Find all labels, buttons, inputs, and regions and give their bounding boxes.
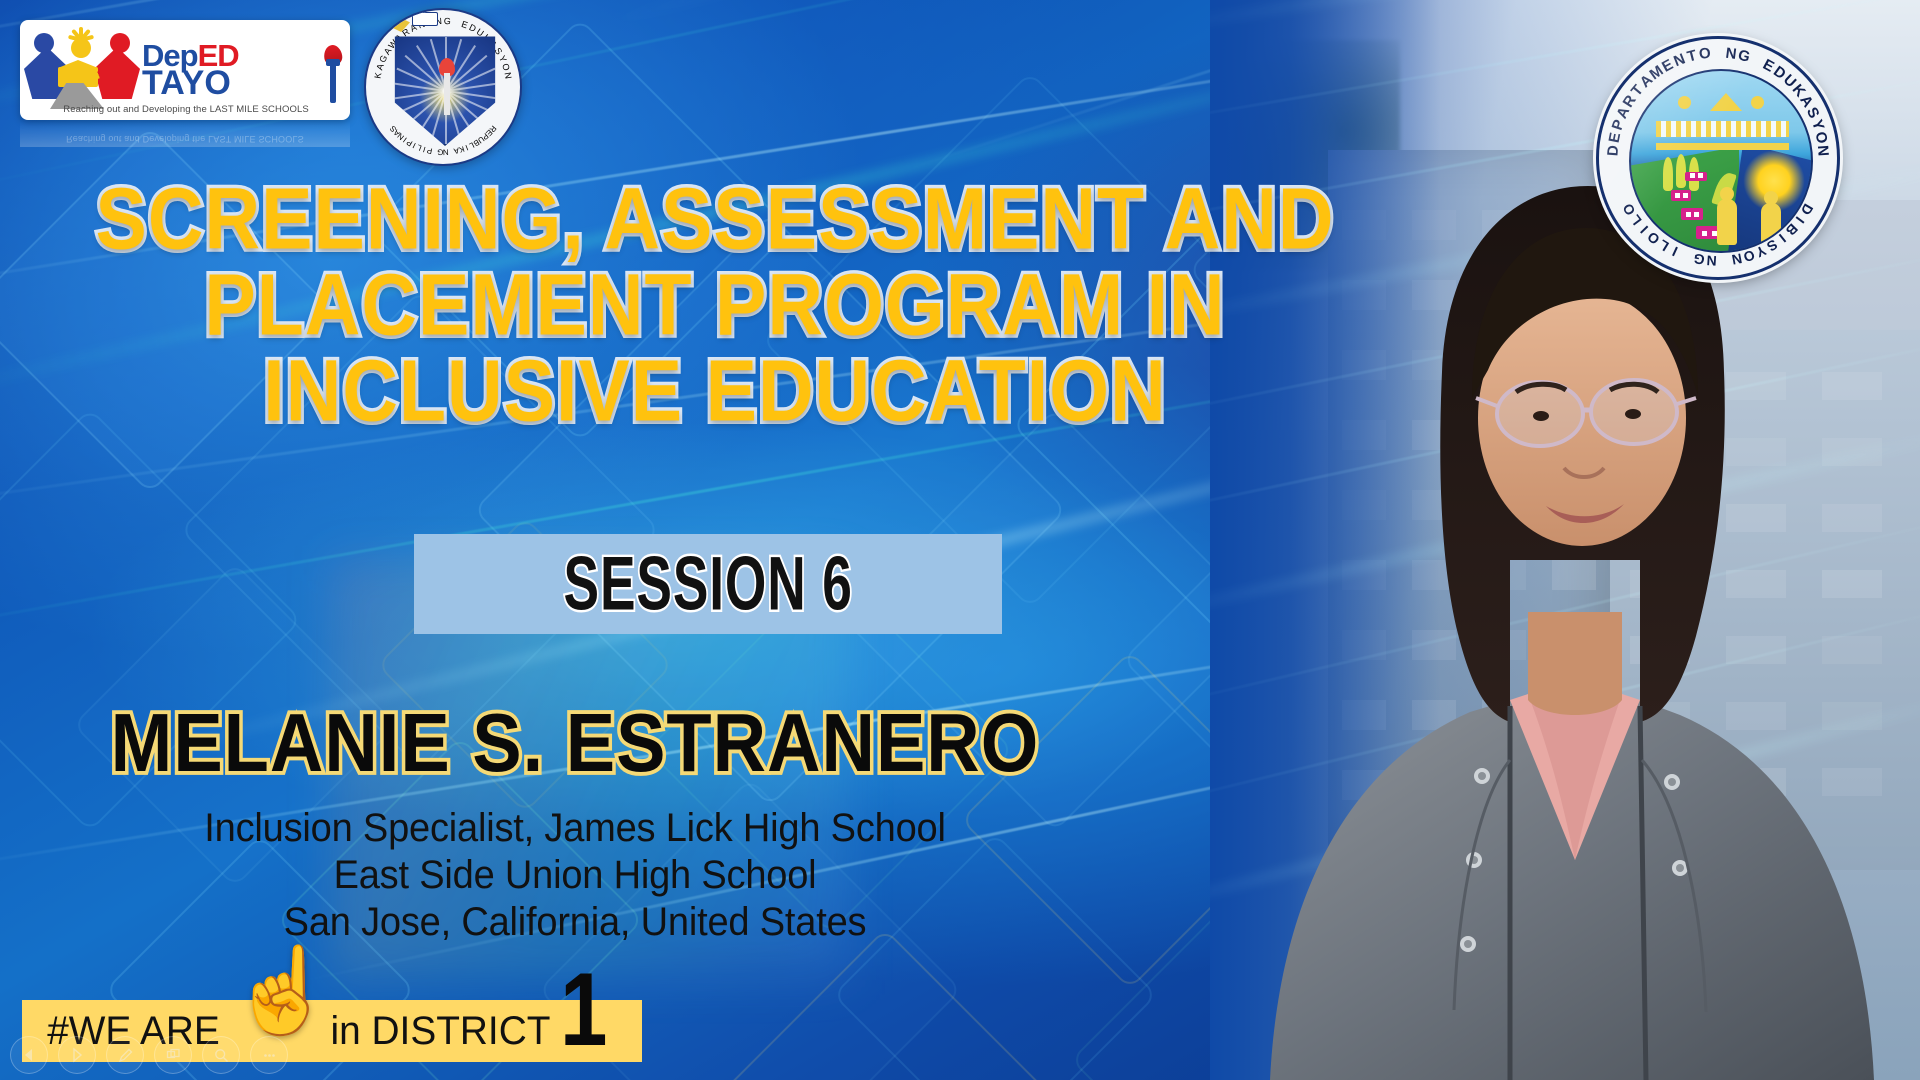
book-icon bbox=[412, 12, 438, 26]
previous-slide-icon[interactable] bbox=[10, 1036, 48, 1074]
speaker-affiliation: Inclusion Specialist, James Lick High Sc… bbox=[48, 805, 1103, 947]
deped-tayo-mark-icon bbox=[20, 27, 142, 113]
affiliation-line-2: East Side Union High School bbox=[48, 852, 1103, 899]
deped-tayo-logo: DepED TAYO Reaching out and Developing t… bbox=[20, 20, 350, 120]
deped-iloilo-seal: DEPARTAMENTO NG EDUKASYONDIBISYON NG ILO… bbox=[1596, 36, 1840, 280]
sun-icon bbox=[60, 29, 102, 59]
deped-tayo-tagline: Reaching out and Developing the LAST MIL… bbox=[28, 104, 344, 115]
next-slide-icon[interactable] bbox=[58, 1036, 96, 1074]
deped-philippines-seal: KAGAWARAN NG EDUKASYONREPUBLIKA NG PILIP… bbox=[364, 8, 522, 166]
torch-icon bbox=[322, 45, 344, 103]
title-line-3: INCLUSIVE EDUCATION bbox=[0, 340, 1438, 441]
slideshow-toolbar[interactable] bbox=[10, 1036, 288, 1074]
affiliation-line-1: Inclusion Specialist, James Lick High Sc… bbox=[48, 805, 1103, 852]
district-number: 1 bbox=[560, 958, 607, 1062]
presentation-slide: DEPARTAMENTO NG EDUKASYONDIBISYON NG ILO… bbox=[0, 0, 1920, 1080]
speaker-name: MELANIE S. ESTRANERO bbox=[20, 695, 1130, 790]
pen-tools-icon[interactable] bbox=[106, 1036, 144, 1074]
zoom-slide-icon[interactable] bbox=[202, 1036, 240, 1074]
logo-word-tayo: TAYO bbox=[142, 68, 342, 99]
logo-reflection: Reaching out and Developing the LAST MIL… bbox=[20, 121, 350, 147]
pointing-hand-icon: ☝ bbox=[230, 948, 335, 1032]
affiliation-line-3: San Jose, California, United States bbox=[48, 899, 1103, 946]
slide-title: SCREENING, ASSESSMENT AND PLACEMENT PROG… bbox=[20, 176, 1410, 433]
session-label: SESSION 6 bbox=[563, 541, 852, 628]
session-banner: SESSION 6 bbox=[414, 534, 1002, 634]
more-options-icon[interactable] bbox=[250, 1036, 288, 1074]
district-suffix: in DISTRICT bbox=[331, 1009, 551, 1053]
all-slides-icon[interactable] bbox=[154, 1036, 192, 1074]
